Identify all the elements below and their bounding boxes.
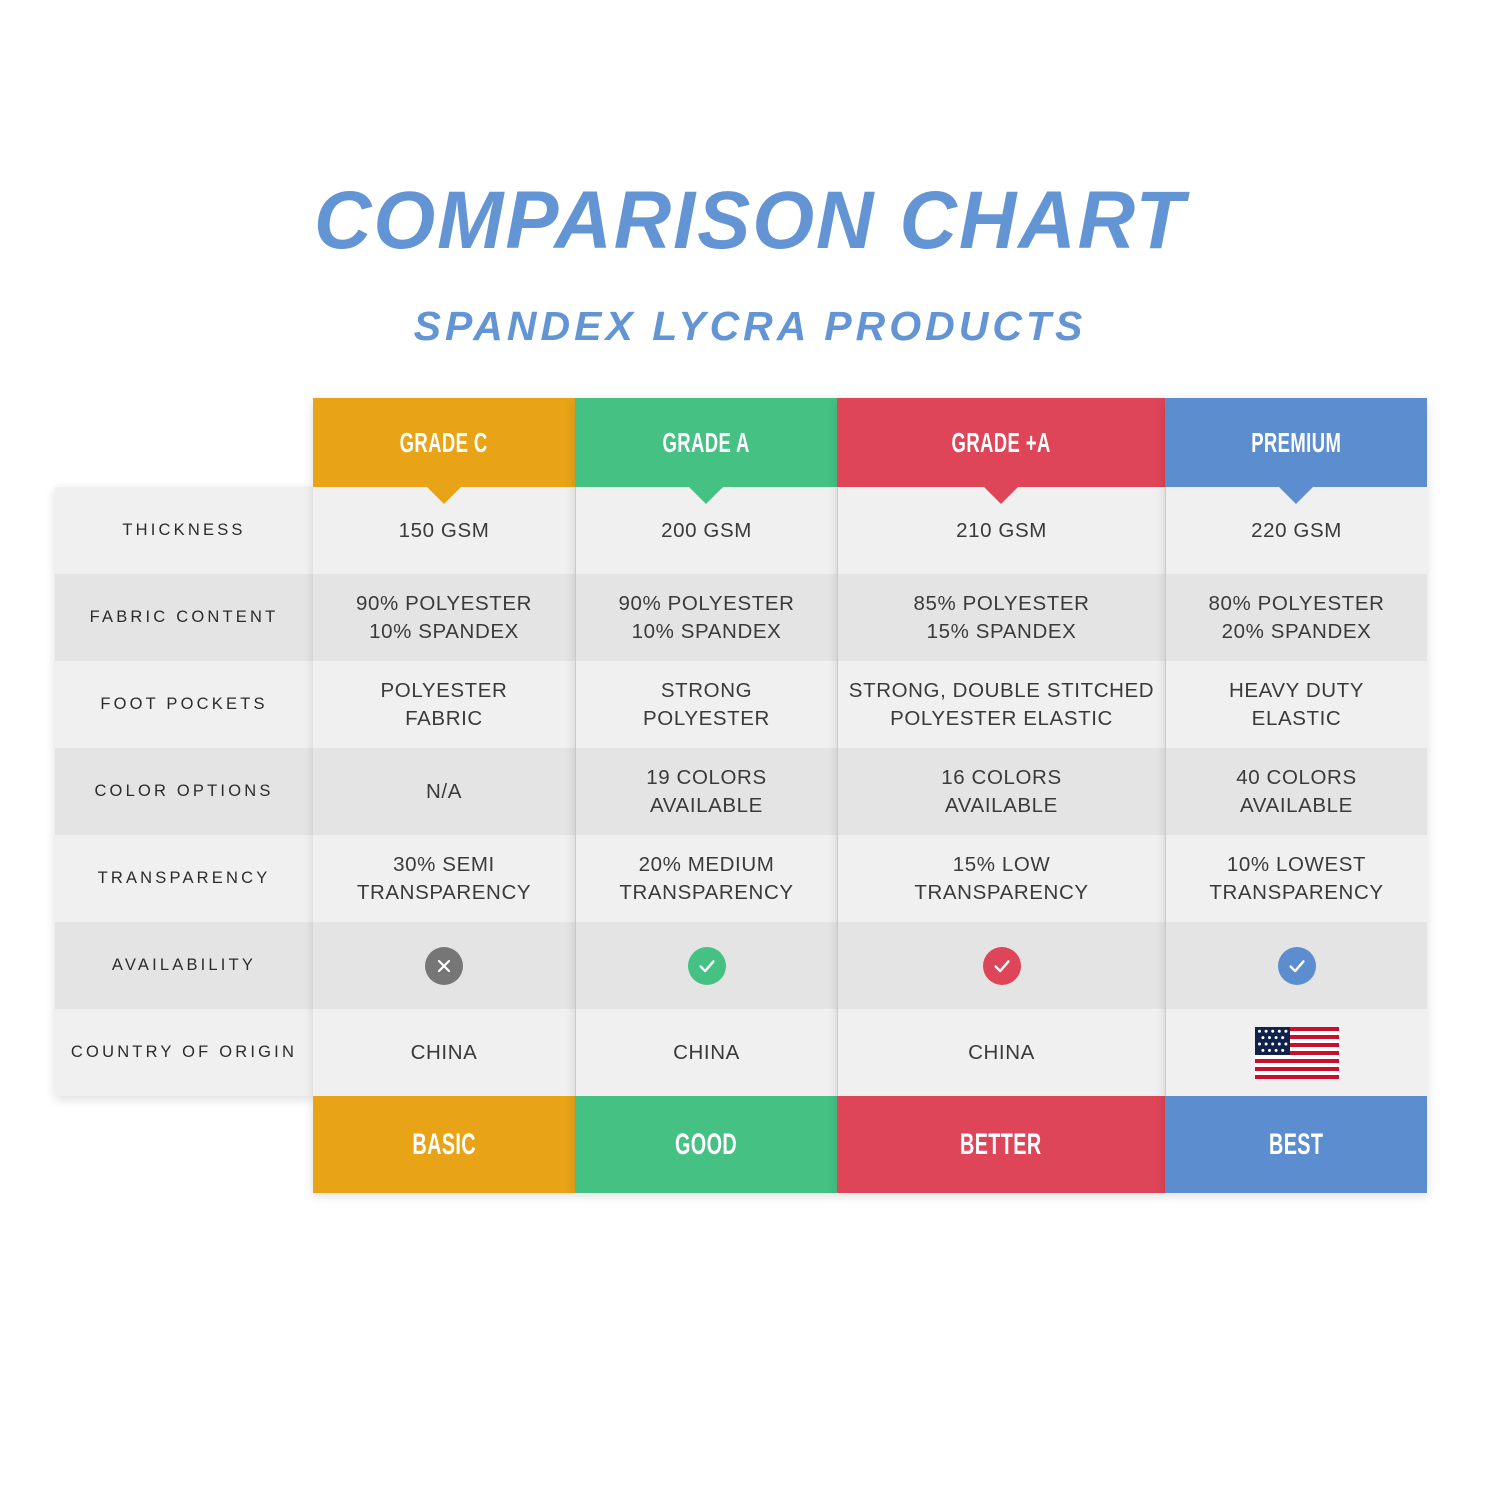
cell-premium-foot-pockets: HEAVY DUTYELASTIC — [1166, 661, 1427, 748]
chevron-down-icon — [427, 487, 461, 504]
column-grade_plus_a: GRADE +A210 GSM85% POLYESTER15% SPANDEXS… — [837, 398, 1165, 1193]
cell-text-line: CHINA — [968, 1039, 1035, 1066]
column-footer-label: BETTER — [960, 1128, 1042, 1162]
cell-premium-fabric-content: 80% POLYESTER20% SPANDEX — [1166, 574, 1427, 661]
column-footer-label: GOOD — [675, 1128, 737, 1162]
cell-text-line: 90% POLYESTER — [618, 590, 794, 617]
cell-grade_plus_a-fabric-content: 85% POLYESTER15% SPANDEX — [838, 574, 1165, 661]
cell-text-line: N/A — [426, 778, 462, 805]
column-footer-grade_c[interactable]: BASIC — [313, 1096, 575, 1193]
cell-text-line: POLYESTER ELASTIC — [890, 705, 1113, 732]
row-label-panel: THICKNESSFABRIC CONTENTFOOT POCKETSCOLOR… — [55, 487, 313, 1096]
cell-text-line: AVAILABLE — [945, 792, 1058, 819]
column-header-grade_plus_a[interactable]: GRADE +A — [837, 398, 1165, 487]
cell-text-line: TRANSPARENCY — [357, 879, 531, 906]
cell-text-line: CHINA — [673, 1039, 740, 1066]
column-header-label: GRADE C — [400, 427, 488, 459]
column-grade_a: GRADE A200 GSM90% POLYESTER10% SPANDEXST… — [575, 398, 837, 1193]
cell-text-line: TRANSPARENCY — [1209, 879, 1383, 906]
cell-premium-color-options: 40 COLORSAVAILABLE — [1166, 748, 1427, 835]
page-title: COMPARISON CHART — [23, 180, 1478, 262]
cell-text-line: HEAVY DUTY — [1229, 677, 1364, 704]
cell-grade_a-availability — [576, 922, 837, 1009]
column-premium: PREMIUM220 GSM80% POLYESTER20% SPANDEXHE… — [1165, 398, 1427, 1193]
cell-text-line: STRONG — [661, 677, 752, 704]
chevron-down-icon — [1279, 487, 1313, 504]
column-grade_c: GRADE C150 GSM90% POLYESTER10% SPANDEXPO… — [313, 398, 575, 1193]
check-circle-icon — [688, 947, 726, 985]
cell-grade_c-foot-pockets: POLYESTERFABRIC — [313, 661, 575, 748]
cell-text-line: 20% MEDIUM — [639, 851, 775, 878]
cell-text-line: FABRIC — [405, 705, 483, 732]
cell-text-line: 15% LOW — [953, 851, 1051, 878]
cell-text-line: 20% SPANDEX — [1222, 618, 1372, 645]
cell-premium-availability — [1166, 922, 1427, 1009]
cell-text-line: 16 COLORS — [941, 764, 1061, 791]
cell-text-line: CHINA — [411, 1039, 478, 1066]
row-label-country-of-origin: COUNTRY OF ORIGIN — [55, 1009, 313, 1096]
cell-premium-transparency: 10% LOWESTTRANSPARENCY — [1166, 835, 1427, 922]
cross-circle-icon — [425, 947, 463, 985]
cell-text-line: 10% SPANDEX — [369, 618, 519, 645]
cell-premium-country-of-origin — [1166, 1009, 1427, 1096]
cell-text-line: 40 COLORS — [1236, 764, 1356, 791]
check-circle-icon — [983, 947, 1021, 985]
cell-grade_c-color-options: N/A — [313, 748, 575, 835]
page-subtitle: SPANDEX LYCRA PRODUCTS — [0, 306, 1500, 347]
cell-text-line: 220 GSM — [1251, 517, 1342, 544]
column-header-label: PREMIUM — [1251, 427, 1341, 459]
column-header-premium[interactable]: PREMIUM — [1165, 398, 1427, 487]
cell-grade_plus_a-transparency: 15% LOWTRANSPARENCY — [838, 835, 1165, 922]
column-body-premium: 220 GSM80% POLYESTER20% SPANDEXHEAVY DUT… — [1165, 487, 1427, 1096]
column-body-grade_c: 150 GSM90% POLYESTER10% SPANDEXPOLYESTER… — [313, 487, 575, 1096]
cell-text-line: 30% SEMI — [393, 851, 495, 878]
cell-grade_c-availability — [313, 922, 575, 1009]
column-footer-label: BASIC — [412, 1128, 476, 1162]
cell-grade_plus_a-country-of-origin: CHINA — [838, 1009, 1165, 1096]
cell-text-line: AVAILABLE — [1240, 792, 1353, 819]
column-header-grade_a[interactable]: GRADE A — [575, 398, 837, 487]
cell-text-line: 90% POLYESTER — [356, 590, 532, 617]
cell-grade_a-fabric-content: 90% POLYESTER10% SPANDEX — [576, 574, 837, 661]
cell-grade_a-transparency: 20% MEDIUMTRANSPARENCY — [576, 835, 837, 922]
cell-text-line: 210 GSM — [956, 517, 1047, 544]
cell-text-line: ELASTIC — [1252, 705, 1342, 732]
column-header-grade_c[interactable]: GRADE C — [313, 398, 575, 487]
cell-grade_a-color-options: 19 COLORSAVAILABLE — [576, 748, 837, 835]
chevron-down-icon — [984, 487, 1018, 504]
cell-text-line: AVAILABLE — [650, 792, 763, 819]
cell-text-line: POLYESTER — [381, 677, 508, 704]
cell-grade_plus_a-color-options: 16 COLORSAVAILABLE — [838, 748, 1165, 835]
column-body-grade_plus_a: 210 GSM85% POLYESTER15% SPANDEXSTRONG, D… — [837, 487, 1165, 1096]
cell-text-line: TRANSPARENCY — [619, 879, 793, 906]
row-label-thickness: THICKNESS — [55, 487, 313, 574]
cell-text-line: 15% SPANDEX — [927, 618, 1077, 645]
cell-grade_plus_a-foot-pockets: STRONG, DOUBLE STITCHEDPOLYESTER ELASTIC — [838, 661, 1165, 748]
cell-text-line: STRONG, DOUBLE STITCHED — [849, 677, 1154, 704]
usa-flag-icon — [1255, 1027, 1339, 1079]
cell-grade_a-foot-pockets: STRONGPOLYESTER — [576, 661, 837, 748]
row-label-fabric-content: FABRIC CONTENT — [55, 574, 313, 661]
comparison-chart: THICKNESSFABRIC CONTENTFOOT POCKETSCOLOR… — [55, 398, 1427, 1193]
cell-grade_a-country-of-origin: CHINA — [576, 1009, 837, 1096]
check-circle-icon — [1278, 947, 1316, 985]
cell-text-line: 80% POLYESTER — [1208, 590, 1384, 617]
row-label-color-options: COLOR OPTIONS — [55, 748, 313, 835]
row-label-availability: AVAILABILITY — [55, 922, 313, 1009]
column-footer-label: BEST — [1269, 1128, 1323, 1162]
cell-text-line: 85% POLYESTER — [913, 590, 1089, 617]
chevron-down-icon — [689, 487, 723, 504]
cell-text-line: POLYESTER — [643, 705, 770, 732]
cell-text-line: 200 GSM — [661, 517, 752, 544]
column-header-label: GRADE +A — [951, 427, 1050, 459]
column-footer-premium[interactable]: BEST — [1165, 1096, 1427, 1193]
column-footer-grade_a[interactable]: GOOD — [575, 1096, 837, 1193]
cell-grade_c-country-of-origin: CHINA — [313, 1009, 575, 1096]
cell-text-line: 10% LOWEST — [1227, 851, 1366, 878]
cell-text-line: 19 COLORS — [646, 764, 766, 791]
cell-grade_plus_a-availability — [838, 922, 1165, 1009]
column-body-grade_a: 200 GSM90% POLYESTER10% SPANDEXSTRONGPOL… — [575, 487, 837, 1096]
row-label-foot-pockets: FOOT POCKETS — [55, 661, 313, 748]
column-footer-grade_plus_a[interactable]: BETTER — [837, 1096, 1165, 1193]
cell-grade_c-fabric-content: 90% POLYESTER10% SPANDEX — [313, 574, 575, 661]
cell-grade_c-transparency: 30% SEMITRANSPARENCY — [313, 835, 575, 922]
cell-text-line: 150 GSM — [399, 517, 490, 544]
row-label-transparency: TRANSPARENCY — [55, 835, 313, 922]
cell-text-line: 10% SPANDEX — [632, 618, 782, 645]
cell-text-line: TRANSPARENCY — [914, 879, 1088, 906]
columns-container: GRADE C150 GSM90% POLYESTER10% SPANDEXPO… — [313, 398, 1427, 1193]
title-block: COMPARISON CHART SPANDEX LYCRA PRODUCTS — [0, 180, 1500, 347]
column-header-label: GRADE A — [662, 427, 749, 459]
